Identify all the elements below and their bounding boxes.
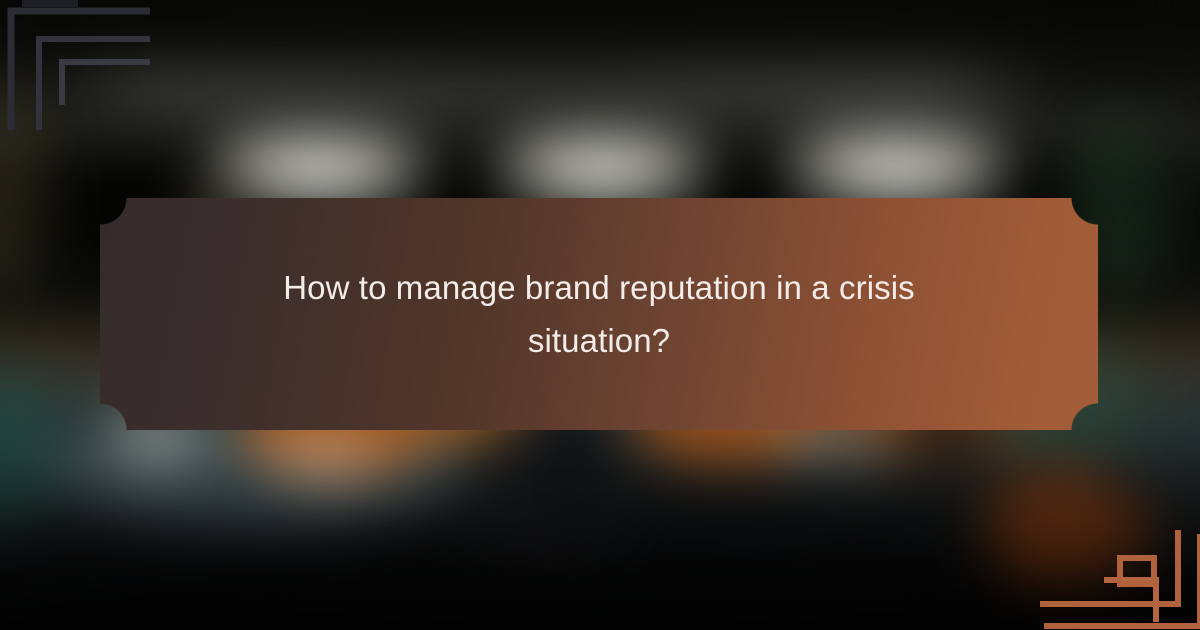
headline-card: How to manage brand reputation in a cris… [100, 198, 1098, 430]
page-title: How to manage brand reputation in a cris… [100, 261, 1098, 368]
corner-ornament-top-left [0, 0, 150, 130]
corner-ornament-bottom-right [1040, 530, 1200, 630]
social-card-canvas: How to manage brand reputation in a cris… [0, 0, 1200, 630]
